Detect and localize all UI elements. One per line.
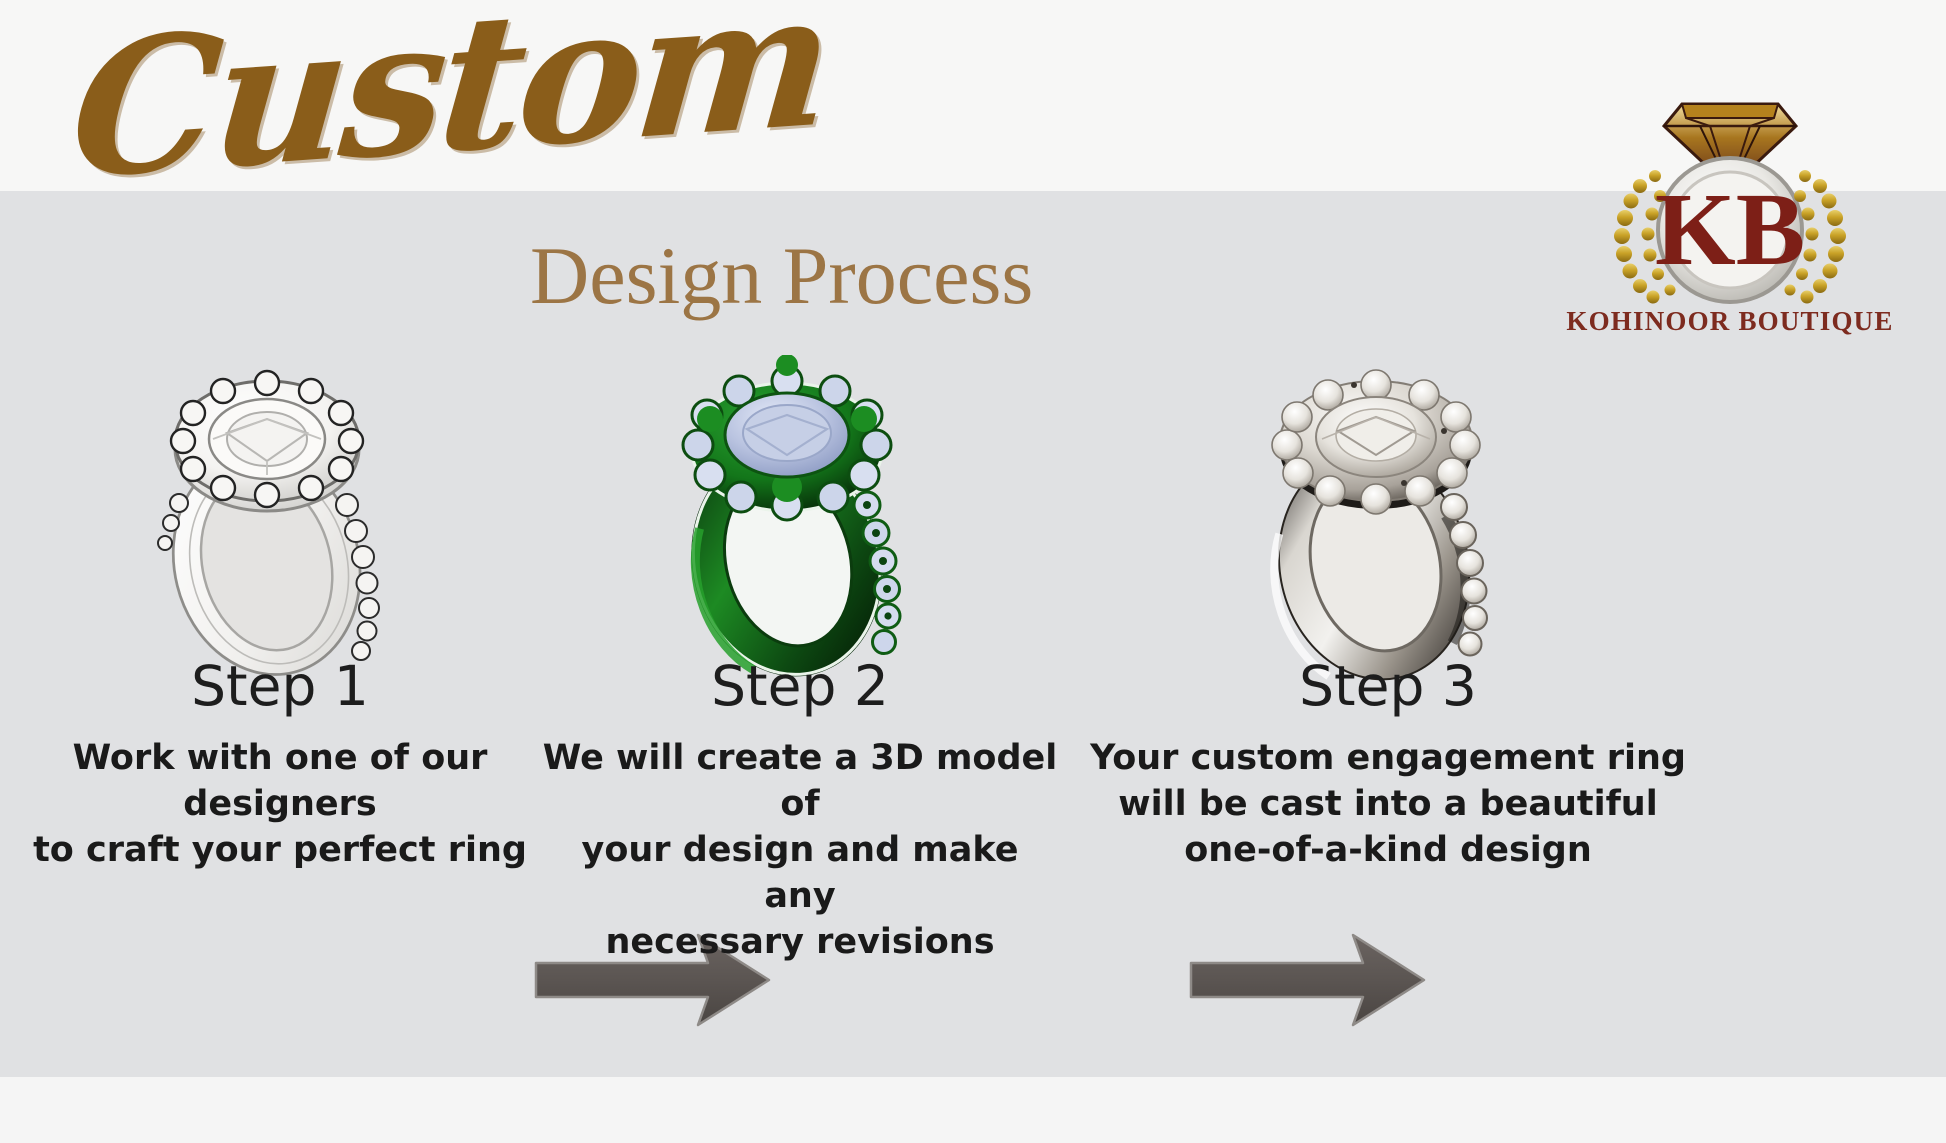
step-1-description-line-1: Work with one of our designers — [10, 735, 550, 827]
step-2-description-line-1: We will create a 3D model of — [540, 735, 1060, 827]
step-2-description-line-2: your design and make any — [540, 827, 1060, 919]
step-card-3: Step 3 Your custom engagement ring will … — [1088, 355, 1648, 1075]
custom-design-process-infographic: Custom Design Process — [0, 0, 1946, 1143]
step-3-description-line-1: Your custom engagement ring — [1088, 735, 1688, 781]
step-card-1: Step 1 Work with one of our designers to… — [0, 355, 560, 1075]
step-2-title: Step 2 — [520, 655, 1080, 717]
background-band-bottom — [0, 1077, 1946, 1143]
logo-monogram-text: KB — [1655, 172, 1805, 287]
diamond-ring-logo-icon: KB — [1560, 68, 1900, 308]
step-card-2: Step 2 We will create a 3D model of your… — [520, 355, 1080, 1075]
finished-white-gold-halo-ring-image — [1088, 355, 1688, 685]
page-title-subtitle: Design Process — [530, 232, 1090, 322]
green-3d-model-halo-ring-image — [520, 355, 1080, 685]
cad-sketch-halo-ring-image — [0, 355, 560, 685]
cad-halo-head — [171, 371, 363, 511]
steps-row: Step 1 Work with one of our designers to… — [0, 355, 1946, 1075]
step-1-description: Work with one of our designers to craft … — [10, 735, 550, 873]
step-2-description-line-3: necessary revisions — [540, 919, 1060, 965]
step-3-title: Step 3 — [1088, 655, 1688, 717]
brand-logo: KB KOHINOOR BOUTIQUE — [1560, 68, 1900, 358]
step-3-description: Your custom engagement ring will be cast… — [1088, 735, 1688, 873]
step-1-description-line-2: to craft your perfect ring — [10, 827, 550, 873]
step-3-description-line-3: one-of-a-kind design — [1088, 827, 1688, 873]
step-1-title: Step 1 — [0, 655, 560, 717]
logo-caption: KOHINOOR BOUTIQUE — [1560, 306, 1900, 337]
step-3-description-line-2: will be cast into a beautiful — [1088, 781, 1688, 827]
step-2-description: We will create a 3D model of your design… — [540, 735, 1060, 965]
